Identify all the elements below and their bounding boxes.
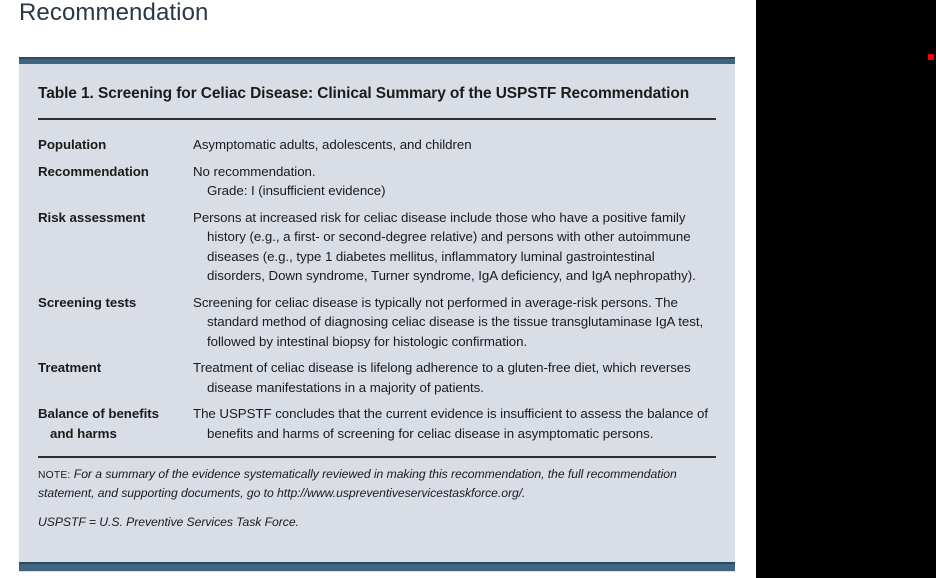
note-text: For a summary of the evidence systematic… — [38, 467, 677, 500]
table-row-value-line: Grade: I (insufficient evidence) — [193, 181, 710, 201]
cursor-pointer-marker — [928, 54, 934, 60]
table-header-divider — [38, 118, 716, 120]
table-row-label: Treatment — [38, 358, 193, 378]
table-row-value-line: Treatment of celiac disease is lifelong … — [193, 358, 710, 397]
table-row-value: Asymptomatic adults, adolescents, and ch… — [193, 135, 716, 155]
table-row-label-line: Screening tests — [38, 295, 136, 310]
table-row-label: Screening tests — [38, 293, 193, 313]
table-footer-divider — [38, 456, 716, 458]
table-row-value-line: Screening for celiac disease is typicall… — [193, 293, 710, 352]
table-row: Screening testsScreening for celiac dise… — [38, 293, 716, 352]
table-row-value: The USPSTF concludes that the current ev… — [193, 404, 716, 443]
table-row-label-line: and harms — [38, 424, 193, 444]
note-row: NOTE: For a summary of the evidence syst… — [38, 466, 716, 502]
blank-right-region — [756, 0, 936, 578]
table-caption: Table 1. Screening for Celiac Disease: C… — [38, 64, 716, 105]
table-row: TreatmentTreatment of celiac disease is … — [38, 358, 716, 397]
table-row: Risk assessmentPersons at increased risk… — [38, 208, 716, 286]
table-row: PopulationAsymptomatic adults, adolescen… — [38, 135, 716, 155]
table-row-label: Balance of benefitsand harms — [38, 404, 193, 443]
table-row-value-line: Asymptomatic adults, adolescents, and ch… — [193, 135, 710, 155]
page-title: Recommendation — [19, 0, 209, 28]
table-row-value: No recommendation.Grade: I (insufficient… — [193, 162, 716, 201]
table-row: RecommendationNo recommendation.Grade: I… — [38, 162, 716, 201]
note-label: NOTE: — [38, 470, 70, 481]
table-row-value: Persons at increased risk for celiac dis… — [193, 208, 716, 286]
table-row-value: Treatment of celiac disease is lifelong … — [193, 358, 716, 397]
table-row-label: Risk assessment — [38, 208, 193, 228]
abbreviation-note: USPSTF = U.S. Preventive Services Task F… — [38, 514, 716, 532]
table-row: Balance of benefitsand harmsThe USPSTF c… — [38, 404, 716, 443]
table-row-value-line: No recommendation. — [193, 162, 710, 182]
table-row-label: Population — [38, 135, 193, 155]
table-row-label-line: Population — [38, 137, 106, 152]
table-row-value: Screening for celiac disease is typicall… — [193, 293, 716, 352]
table-row-label: Recommendation — [38, 162, 193, 182]
table-row-label-line: Balance of benefits — [38, 406, 159, 421]
table-panel: Table 1. Screening for Celiac Disease: C… — [19, 57, 735, 572]
table-row-label-line: Recommendation — [38, 164, 149, 179]
table-row-value-line: Persons at increased risk for celiac dis… — [193, 208, 710, 286]
table-body: PopulationAsymptomatic adults, adolescen… — [38, 135, 716, 443]
table-content: Table 1. Screening for Celiac Disease: C… — [19, 64, 735, 532]
table-row-label-line: Risk assessment — [38, 210, 145, 225]
table-bottom-accent-bar — [19, 562, 735, 571]
table-row-value-line: The USPSTF concludes that the current ev… — [193, 404, 710, 443]
table-top-accent-bar — [19, 57, 735, 64]
table-footnotes: NOTE: For a summary of the evidence syst… — [38, 466, 716, 532]
table-row-label-line: Treatment — [38, 360, 101, 375]
